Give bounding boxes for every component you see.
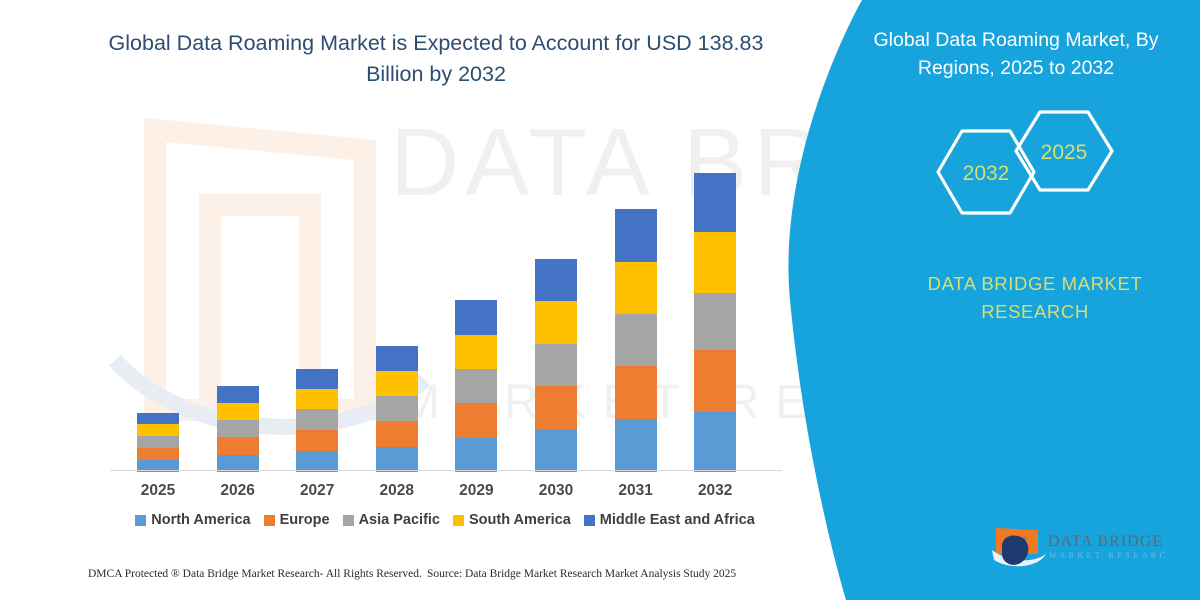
- x-axis-line: [110, 470, 782, 471]
- bar-segment-europe: [535, 386, 577, 429]
- x-axis-label-2025: 2025: [123, 482, 193, 500]
- x-axis-label-2026: 2026: [203, 482, 273, 500]
- bar-segment-europe: [376, 421, 418, 447]
- bar-segment-middle-east-and-africa: [694, 173, 736, 232]
- legend-swatch-icon: [135, 515, 146, 526]
- bar-segment-europe: [217, 437, 259, 455]
- bar-segment-north-america: [535, 429, 577, 472]
- chart-legend: North AmericaEuropeAsia PacificSouth Ame…: [110, 512, 780, 528]
- x-axis-label-2031: 2031: [601, 482, 671, 500]
- footer-source: Source: Data Bridge Market Research Mark…: [427, 568, 736, 580]
- bar-segment-south-america: [535, 301, 577, 344]
- data-bridge-logo: DATA BRIDGE MARKET RESEARCH: [988, 524, 1168, 572]
- legend-label: Europe: [280, 512, 330, 528]
- x-axis-label-2028: 2028: [362, 482, 432, 500]
- bar-segment-south-america: [376, 371, 418, 396]
- bar-segment-asia-pacific: [137, 436, 179, 448]
- bar-segment-europe: [694, 350, 736, 412]
- bar-column-2027[interactable]: [296, 369, 338, 472]
- x-axis-labels: 20252026202720282029203020312032: [110, 482, 770, 504]
- legend-label: North America: [151, 512, 250, 528]
- bar-segment-asia-pacific: [535, 344, 577, 386]
- bar-column-2030[interactable]: [535, 259, 577, 472]
- legend-swatch-icon: [453, 515, 464, 526]
- bar-segment-asia-pacific: [694, 293, 736, 350]
- bar-segment-middle-east-and-africa: [217, 386, 259, 403]
- bar-segment-europe: [615, 366, 657, 419]
- legend-swatch-icon: [264, 515, 275, 526]
- bar-segment-north-america: [694, 412, 736, 472]
- svg-text:DATA BRIDGE: DATA BRIDGE: [1048, 533, 1163, 550]
- x-axis-label-2027: 2027: [282, 482, 352, 500]
- bar-column-2029[interactable]: [455, 300, 497, 472]
- legend-swatch-icon: [343, 515, 354, 526]
- bar-segment-middle-east-and-africa: [376, 346, 418, 371]
- bar-segment-asia-pacific: [296, 409, 338, 430]
- bar-segment-north-america: [615, 419, 657, 472]
- bar-segment-north-america: [296, 451, 338, 472]
- bar-segment-north-america: [455, 438, 497, 472]
- bar-segment-north-america: [376, 447, 418, 472]
- legend-item-middle-east-and-africa[interactable]: Middle East and Africa: [584, 512, 755, 528]
- bar-segment-middle-east-and-africa: [455, 300, 497, 335]
- stacked-bar-chart: [110, 100, 770, 472]
- bar-segment-middle-east-and-africa: [615, 209, 657, 262]
- page-title: Global Data Roaming Market is Expected t…: [86, 28, 786, 89]
- legend-swatch-icon: [584, 515, 595, 526]
- bar-segment-south-america: [217, 403, 259, 420]
- bar-column-2025[interactable]: [137, 413, 179, 472]
- bar-segment-south-america: [455, 335, 497, 369]
- bar-segment-middle-east-and-africa: [296, 369, 338, 389]
- legend-label: South America: [469, 512, 571, 528]
- bar-segment-europe: [296, 430, 338, 451]
- x-axis-label-2030: 2030: [521, 482, 591, 500]
- legend-item-north-america[interactable]: North America: [135, 512, 250, 528]
- bar-segment-asia-pacific: [376, 396, 418, 421]
- bar-segment-south-america: [296, 389, 338, 409]
- svg-text:2025: 2025: [1041, 141, 1088, 164]
- hexagon-year-badges: 2032 2025: [920, 110, 1130, 235]
- infographic-canvas: DATA BRIDGE MARKET RESEARCH Global Data …: [0, 0, 1200, 600]
- bar-segment-europe: [455, 403, 497, 438]
- bar-segment-asia-pacific: [455, 369, 497, 403]
- bar-column-2031[interactable]: [615, 209, 657, 472]
- bar-column-2026[interactable]: [217, 386, 259, 472]
- bar-segment-europe: [137, 448, 179, 460]
- bar-segment-asia-pacific: [217, 420, 259, 437]
- x-axis-label-2029: 2029: [441, 482, 511, 500]
- legend-item-south-america[interactable]: South America: [453, 512, 571, 528]
- footer-copyright: DMCA Protected ® Data Bridge Market Rese…: [88, 568, 422, 580]
- legend-label: Asia Pacific: [359, 512, 440, 528]
- bar-segment-middle-east-and-africa: [137, 413, 179, 424]
- x-axis-label-2032: 2032: [680, 482, 750, 500]
- svg-text:MARKET RESEARCH: MARKET RESEARCH: [1049, 551, 1168, 560]
- bar-segment-middle-east-and-africa: [535, 259, 577, 301]
- bar-segment-south-america: [615, 262, 657, 314]
- legend-label: Middle East and Africa: [600, 512, 755, 528]
- bar-segment-south-america: [694, 232, 736, 293]
- bar-segment-south-america: [137, 424, 179, 436]
- legend-item-europe[interactable]: Europe: [264, 512, 330, 528]
- bar-column-2032[interactable]: [694, 173, 736, 472]
- panel-title: Global Data Roaming Market, By Regions, …: [848, 26, 1184, 83]
- bar-segment-asia-pacific: [615, 314, 657, 366]
- svg-text:2032: 2032: [963, 162, 1010, 185]
- bar-column-2028[interactable]: [376, 346, 418, 472]
- legend-item-asia-pacific[interactable]: Asia Pacific: [343, 512, 440, 528]
- brand-name: DATA BRIDGE MARKET RESEARCH: [885, 270, 1185, 326]
